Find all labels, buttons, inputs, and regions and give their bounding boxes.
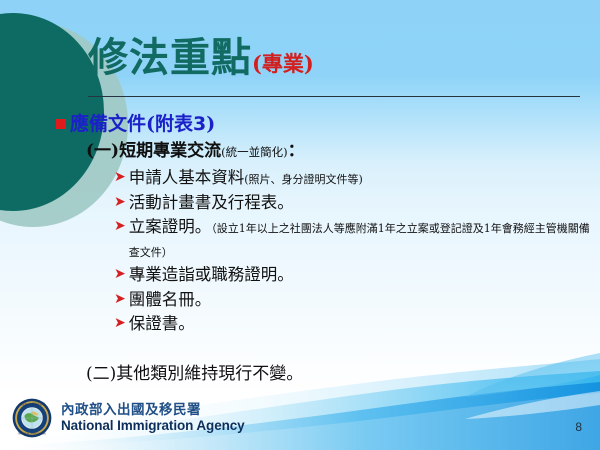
square-bullet-icon	[56, 119, 66, 129]
list-item-text: 申請人基本資料	[129, 168, 245, 187]
section-one-title: (一)短期專業交流	[86, 141, 221, 161]
list-item-text: 保證書。	[129, 314, 195, 333]
arrow-bullet-icon: ➤	[114, 312, 126, 334]
list-item: ➤ 申請人基本資料(照片、身分證明文件等)	[114, 166, 596, 189]
agency-name-chinese: 內政部入出國及移民署	[61, 403, 245, 418]
title-sub-text: (專業)	[252, 51, 314, 76]
list-item: ➤ 活動計畫書及行程表。	[114, 191, 596, 214]
arrow-bullet-icon: ➤	[114, 166, 126, 188]
agency-name-english: National Immigration Agency	[61, 418, 245, 433]
page-number: 8	[575, 420, 582, 434]
list-item: ➤ 保證書。	[114, 312, 596, 335]
list-item: ➤ 團體名冊。	[114, 288, 596, 311]
footer-branding: 內政部入出國及移民署 NATIONAL IMMIGRATION 內政部入出國及移…	[12, 398, 245, 438]
list-item: ➤ 專業造詣或職務證明。	[114, 263, 596, 286]
title-underline-rule	[88, 96, 580, 97]
list-item-text: 立案證明。	[129, 217, 212, 236]
slide-canvas: 修法重點(專業) 應備文件(附表3) (一)短期專業交流(統一並簡化)： ➤ 申…	[0, 0, 600, 450]
list-item-text: 專業造詣或職務證明。	[129, 265, 294, 284]
heading-attachment-number: 3	[193, 113, 206, 135]
arrow-bullet-icon: ➤	[114, 288, 126, 310]
arrow-bullet-icon: ➤	[114, 215, 126, 237]
arrow-bullet-icon: ➤	[114, 263, 126, 285]
section-one-note: (統一並簡化)	[221, 145, 287, 159]
list-item: ➤ 立案證明。（設立1年以上之社團法人等應附滿1年之立案或登記證及1年會務經主管…	[114, 215, 596, 262]
svg-text:NATIONAL IMMIGRATION: NATIONAL IMMIGRATION	[18, 432, 46, 435]
title-main-text: 修法重點	[88, 34, 252, 81]
list-item-text: 團體名冊。	[129, 290, 212, 309]
heading-text-before: 應備文件(附表	[70, 113, 193, 135]
section-one-colon: ：	[288, 141, 305, 161]
heading-required-documents: 應備文件(附表3)	[56, 112, 596, 138]
heading-text-after: )	[206, 113, 215, 135]
arrow-bullet-icon: ➤	[114, 191, 126, 213]
section-one-label: (一)短期專業交流(統一並簡化)：	[86, 140, 596, 164]
slide-title: 修法重點(專業)	[88, 38, 580, 78]
svg-text:內政部入出國及移民署: 內政部入出國及移民署	[19, 402, 45, 406]
agency-emblem-icon: 內政部入出國及移民署 NATIONAL IMMIGRATION	[12, 398, 52, 438]
list-item-text: 活動計畫書及行程表。	[129, 193, 294, 212]
list-item-note: (照片、身分證明文件等)	[244, 173, 363, 186]
